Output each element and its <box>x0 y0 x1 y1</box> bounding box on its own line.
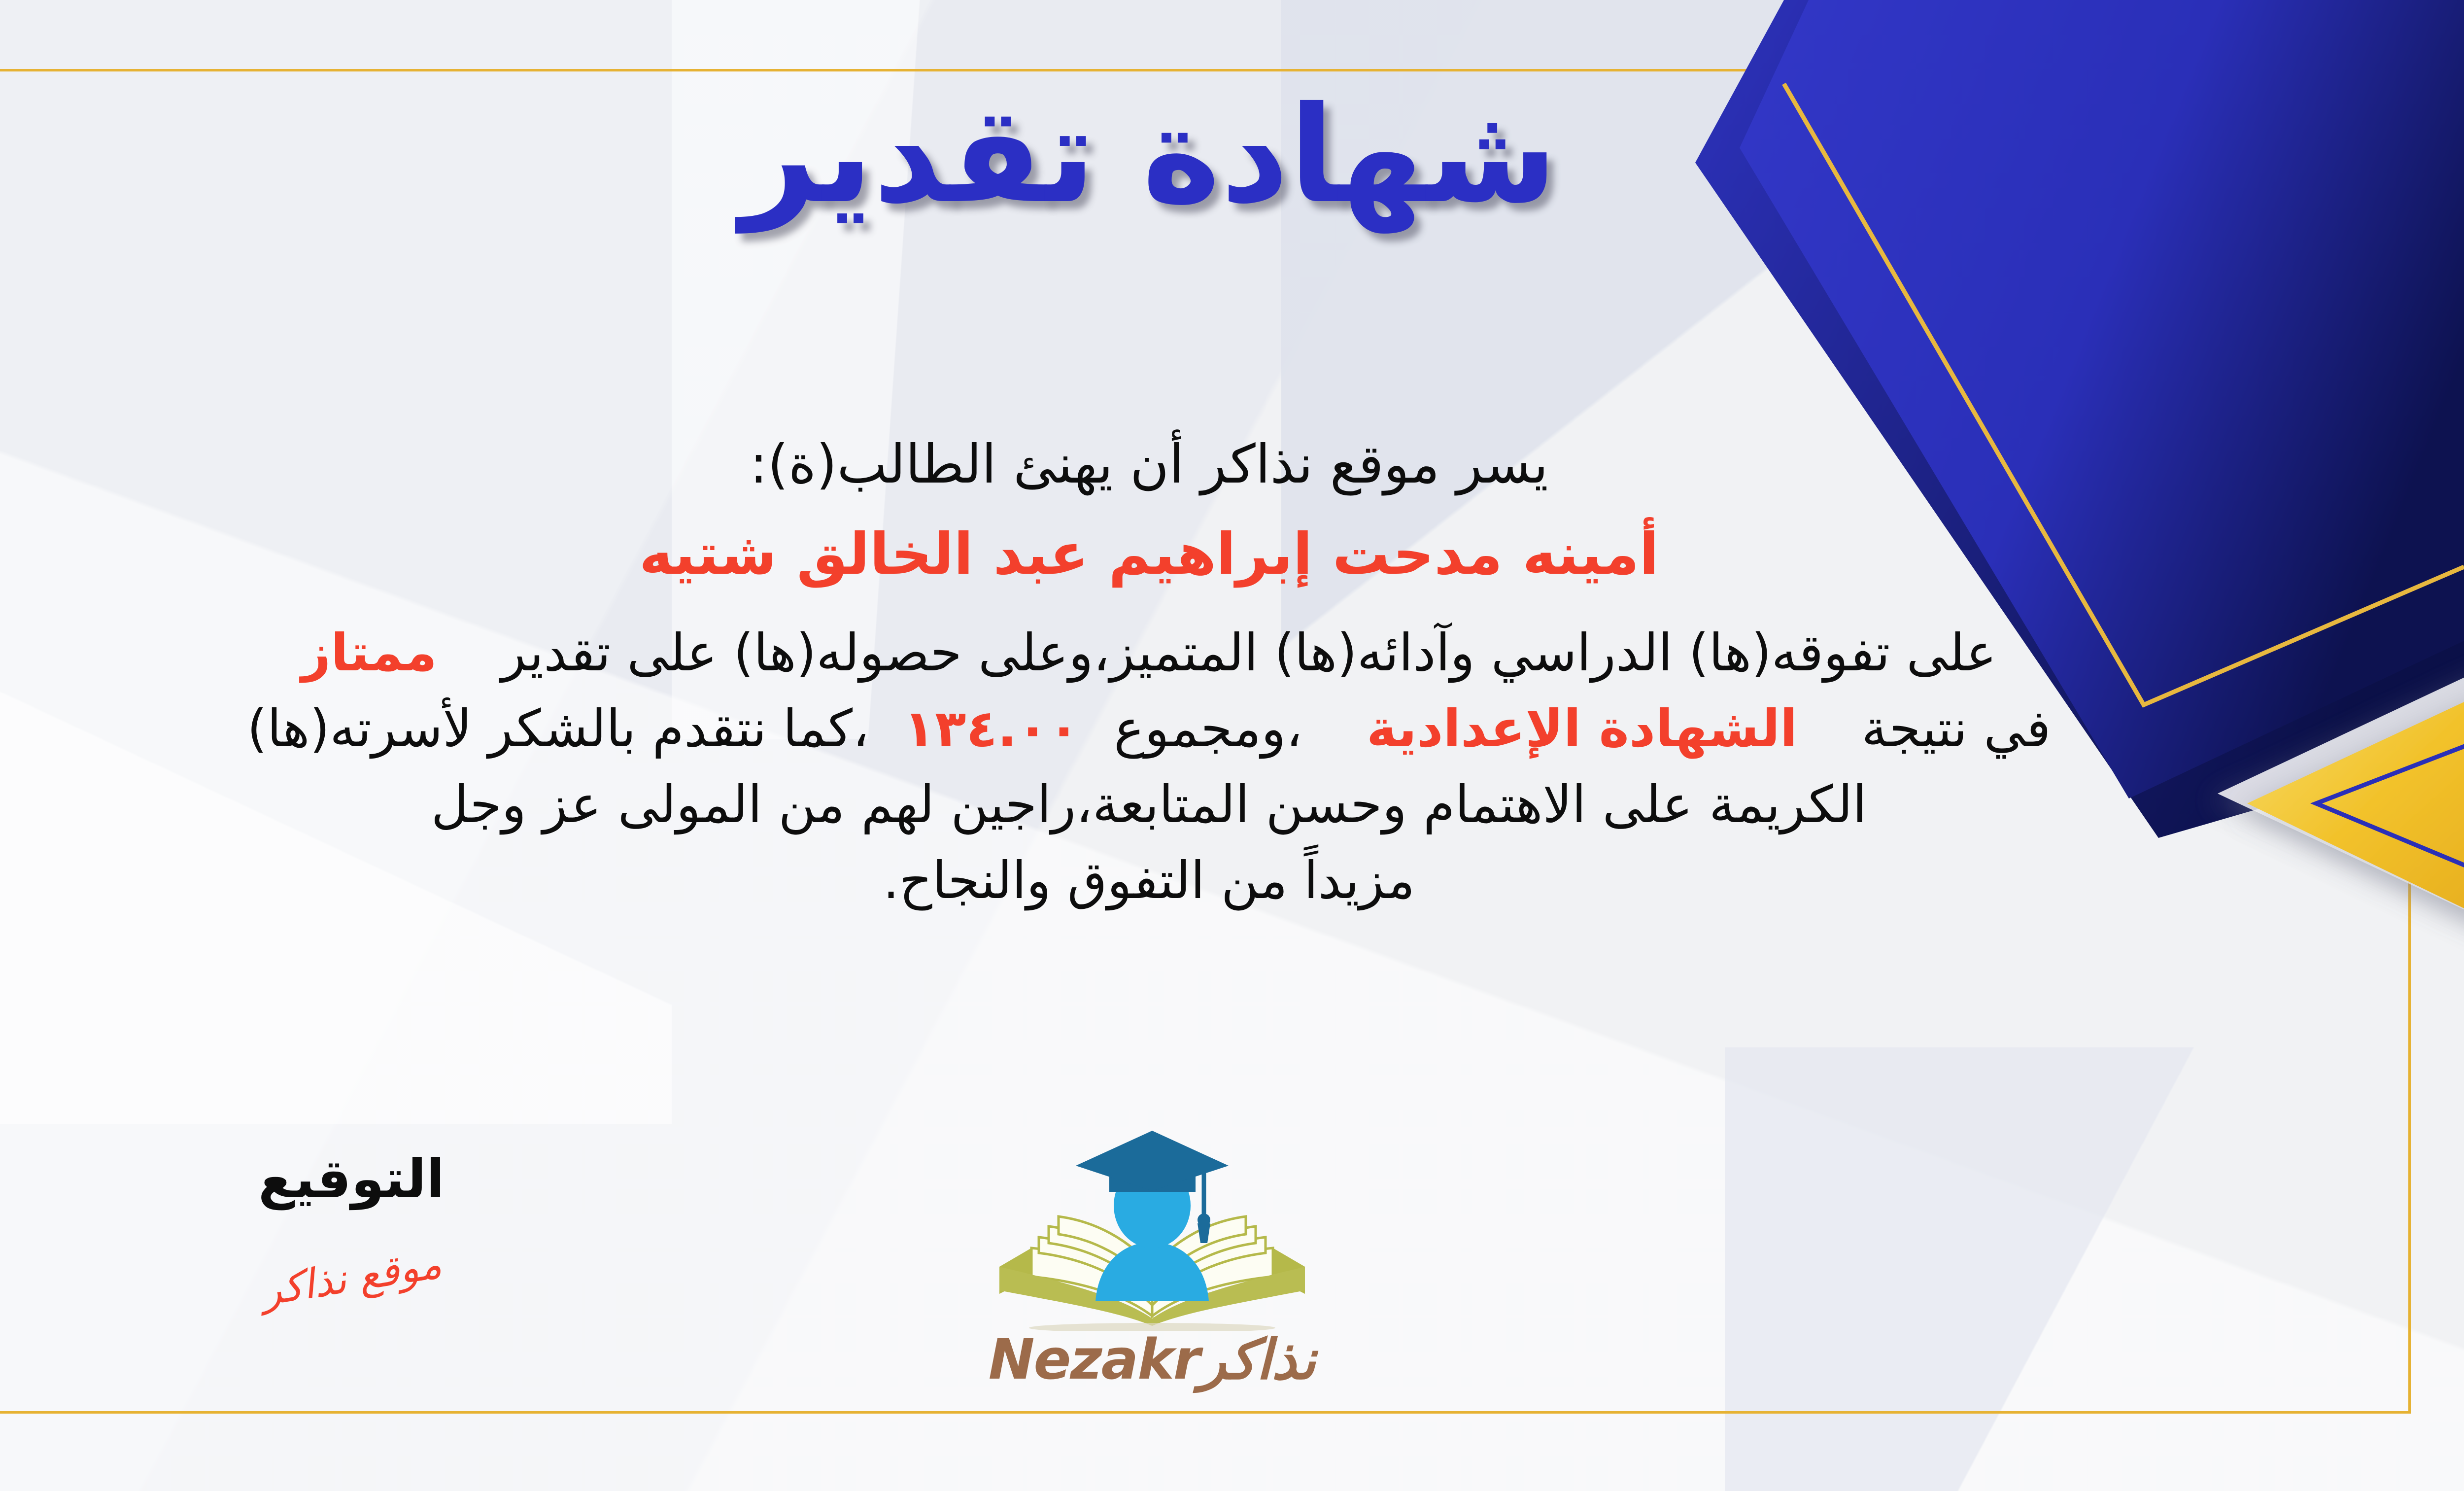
citation-line2-c: ،كما نتقدم بالشكر لأسرته(ها) <box>247 698 869 759</box>
lead-line: يسر موقع نذاكر أن يهنئ الطالب(ة): <box>0 434 2316 495</box>
nezakr-logo: نذاكرNezakr <box>972 1119 1332 1392</box>
citation-line2-a: في نتيجة <box>1862 698 2051 759</box>
corner-ornament-bottom-left <box>0 1121 184 1491</box>
logo-latin: Nezakr <box>989 1328 1199 1392</box>
citation-line3: الكريمة على الاهتمام وحسن المتابعة،راجين… <box>431 774 1867 834</box>
signature-block: التوقيع موقع نذاكر <box>179 1148 524 1301</box>
signature-label: التوقيع <box>179 1148 524 1210</box>
citation-line1: على تفوقه(ها) الدراسي وآدائه(ها) المتميز… <box>501 623 1997 683</box>
signature-mark: موقع نذاكر <box>177 1228 525 1328</box>
grade-value: ممتاز <box>301 623 437 683</box>
logo-arabic: نذاكر <box>1199 1328 1316 1392</box>
logo-wordmark: نذاكرNezakr <box>972 1328 1332 1392</box>
citation-line2-b: ،ومجموع <box>1114 698 1302 759</box>
certificate-body: يسر موقع نذاكر أن يهنئ الطالب(ة): أمينه … <box>0 434 2316 919</box>
citation-line4: مزيداً من التفوق والنجاح. <box>883 850 1415 910</box>
certificate-canvas: شهادة تقدير يسر موقع نذاكر أن يهنئ الطال… <box>0 0 2464 1491</box>
exam-name: الشهادة الإعدادية <box>1367 698 1798 759</box>
citation-paragraph: على تفوقه(ها) الدراسي وآدائه(ها) المتميز… <box>0 615 2316 919</box>
graduation-book-icon <box>972 1119 1332 1331</box>
background-facet-4 <box>1725 1047 2464 1491</box>
certificate-title: شهادة تقدير <box>0 89 2464 222</box>
certificate-title-wrap: شهادة تقدير <box>0 89 2464 222</box>
total-score: ١٣٤.٠٠ <box>904 698 1080 759</box>
student-name: أمينه مدحت إبراهيم عبد الخالق شتيه <box>0 521 2316 588</box>
